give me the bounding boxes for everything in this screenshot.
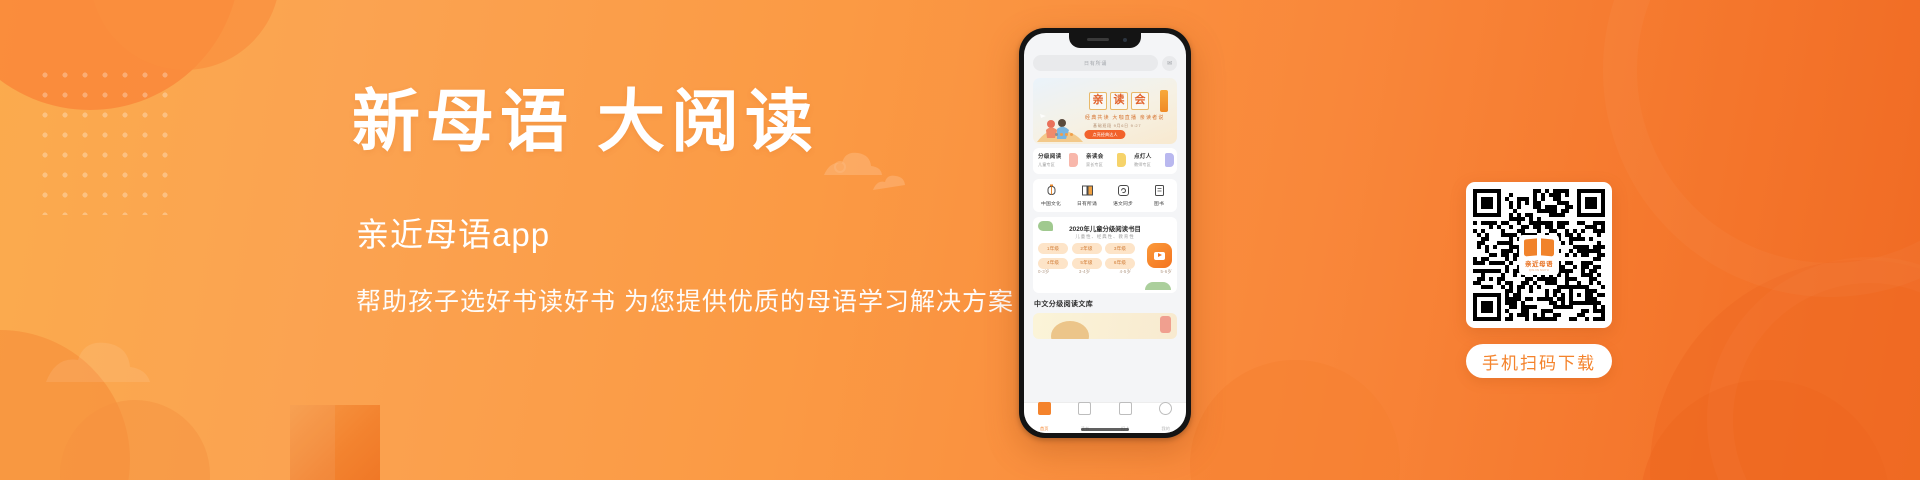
tab-label: 首页 bbox=[1040, 426, 1048, 431]
qr-block: 亲近母语 QINJIN MUYU 手机扫码下载 bbox=[1466, 182, 1612, 378]
check-icon bbox=[1119, 402, 1132, 415]
quick-links-card: 中国文化 日有所诵 语文同步 bbox=[1033, 179, 1177, 212]
hero-banner[interactable]: 亲 读 会 经典共读 大咖直播 亲读者说 基础班段 9月6日 9:27 点亮经典… bbox=[1033, 78, 1177, 144]
quick-link-textbook-sync[interactable]: 语文同步 bbox=[1105, 184, 1141, 207]
app-search-bar[interactable]: 日有所诵 ✉ bbox=[1033, 55, 1177, 71]
age-chip[interactable]: 5-6岁 bbox=[1160, 269, 1172, 275]
grade-chip[interactable]: 2年级 bbox=[1072, 243, 1102, 254]
decor-dot-grid bbox=[35, 65, 175, 215]
category-card: 分级阅读 儿童专区 亲读会 家长专区 点灯人 教师专区 bbox=[1033, 148, 1177, 174]
hero-char-3: 会 bbox=[1131, 92, 1149, 110]
list-icon bbox=[1078, 402, 1091, 415]
quick-link-label: 日有所诵 bbox=[1069, 200, 1105, 207]
booklist-title: 2020年儿童分级阅读书目 bbox=[1033, 224, 1177, 233]
quick-link-label: 图书 bbox=[1141, 200, 1177, 207]
qr-logo-title: 亲近母语 bbox=[1525, 258, 1553, 268]
tab-profile[interactable]: 我的 bbox=[1146, 402, 1187, 434]
message-icon[interactable]: ✉ bbox=[1162, 56, 1177, 71]
qr-center-logo: 亲近母语 QINJIN MUYU bbox=[1519, 235, 1559, 275]
hero-cta-button[interactable]: 点亮经典达人 bbox=[1084, 130, 1125, 139]
book-decor-icon bbox=[1117, 153, 1126, 167]
category-item-reading-club[interactable]: 亲读会 家长专区 bbox=[1081, 148, 1129, 174]
hero-flag-decor bbox=[1160, 90, 1168, 112]
carousel-dots[interactable] bbox=[1055, 133, 1073, 136]
decor-blob-middle-right bbox=[1190, 360, 1400, 480]
tab-label: 我的 bbox=[1162, 426, 1170, 431]
promo-banner: 新母语 大阅读 亲近母语app 帮助孩子选好书读好书 为您提供优质的母语学习解决… bbox=[0, 0, 1920, 480]
decor-cube bbox=[290, 405, 380, 480]
book-decor-icon bbox=[1069, 153, 1078, 167]
book-open-icon bbox=[1081, 184, 1094, 197]
phone-screen: 日有所诵 ✉ 亲 读 会 经典共读 bbox=[1024, 33, 1186, 433]
tagline: 帮助孩子选好书读好书 为您提供优质的母语学习解决方案 bbox=[356, 282, 1052, 318]
phone-mockup: 日有所诵 ✉ 亲 读 会 经典共读 bbox=[1019, 28, 1191, 438]
book-decor-icon bbox=[1165, 153, 1174, 167]
decor-blob-bottom-left-2 bbox=[60, 400, 210, 480]
library-card[interactable] bbox=[1033, 313, 1177, 339]
age-chip[interactable]: 4-5岁 bbox=[1120, 269, 1132, 275]
booklist-card: 2020年儿童分级阅读书目 儿童性、经典性、教育性 1年级 2年级 3年级 4年… bbox=[1033, 217, 1177, 293]
hero-char-1: 亲 bbox=[1089, 92, 1107, 110]
age-chip[interactable]: 0-3岁 bbox=[1038, 269, 1050, 275]
quick-link-daily-recite[interactable]: 日有所诵 bbox=[1069, 184, 1105, 207]
leaf-decor-2 bbox=[1145, 282, 1171, 290]
quick-link-books[interactable]: 图书 bbox=[1141, 184, 1177, 207]
grade-chip-list: 1年级 2年级 3年级 4年级 5年级 6年级 bbox=[1038, 243, 1149, 269]
hero-illustration bbox=[1037, 108, 1083, 142]
lantern-icon bbox=[1045, 184, 1058, 197]
search-placeholder: 日有所诵 bbox=[1084, 60, 1107, 67]
search-input[interactable]: 日有所诵 bbox=[1033, 55, 1158, 71]
grade-chip[interactable]: 5年级 bbox=[1072, 258, 1102, 269]
booklist-subtitle: 儿童性、经典性、教育性 bbox=[1033, 234, 1177, 240]
decor-blob-top-left-2 bbox=[90, 0, 280, 70]
library-decor bbox=[1051, 321, 1089, 339]
decor-blob-bottom-right-2 bbox=[1640, 380, 1890, 480]
scan-download-button[interactable]: 手机扫码下载 bbox=[1466, 344, 1612, 378]
category-item-graded-reading[interactable]: 分级阅读 儿童专区 bbox=[1033, 148, 1081, 174]
grade-chip[interactable]: 6年级 bbox=[1105, 258, 1135, 269]
user-icon bbox=[1159, 402, 1172, 415]
page-title: 新母语 大阅读 bbox=[352, 88, 1052, 156]
home-indicator bbox=[1081, 428, 1129, 431]
hero-subtitle: 经典共读 大咖直播 亲读者说 bbox=[1085, 114, 1165, 121]
hero-meta: 基础班段 9月6日 9:27 bbox=[1093, 123, 1141, 129]
phone-notch bbox=[1069, 33, 1141, 48]
home-icon bbox=[1038, 402, 1051, 415]
grade-chip[interactable]: 4年级 bbox=[1038, 258, 1068, 269]
age-chip[interactable]: 3-4岁 bbox=[1079, 269, 1091, 275]
grade-chip[interactable]: 3年级 bbox=[1105, 243, 1135, 254]
book-logo-icon bbox=[1524, 239, 1554, 257]
category-item-lamplighter[interactable]: 点灯人 教师专区 bbox=[1129, 148, 1177, 174]
quick-link-chinese-culture[interactable]: 中国文化 bbox=[1033, 184, 1069, 207]
hero-title: 亲 读 会 bbox=[1089, 92, 1149, 110]
library-section-title: 中文分级阅读文库 bbox=[1034, 299, 1093, 309]
tab-home[interactable]: 首页 bbox=[1024, 402, 1065, 434]
library-tab-decor bbox=[1160, 316, 1171, 333]
decor-blob-bottom-left bbox=[0, 330, 130, 480]
decor-cloud-left-icon bbox=[40, 330, 160, 390]
qr-code: 亲近母语 QINJIN MUYU bbox=[1466, 182, 1612, 328]
book-icon bbox=[1153, 184, 1166, 197]
hero-char-2: 读 bbox=[1110, 92, 1128, 110]
age-range-list: 0-3岁 3-4岁 4-5岁 5-6岁 bbox=[1038, 269, 1172, 275]
grade-chip[interactable]: 1年级 bbox=[1038, 243, 1068, 254]
quick-link-label: 语文同步 bbox=[1105, 200, 1141, 207]
video-play-icon[interactable] bbox=[1147, 243, 1172, 268]
app-name: 亲近母语app bbox=[356, 208, 1052, 256]
quick-link-label: 中国文化 bbox=[1033, 200, 1069, 207]
qr-logo-sub: QINJIN MUYU bbox=[1529, 269, 1549, 272]
decor-blob-bottom-right bbox=[1650, 260, 1920, 480]
copy-block: 新母语 大阅读 亲近母语app 帮助孩子选好书读好书 为您提供优质的母语学习解决… bbox=[352, 88, 1052, 318]
sync-icon bbox=[1117, 184, 1130, 197]
